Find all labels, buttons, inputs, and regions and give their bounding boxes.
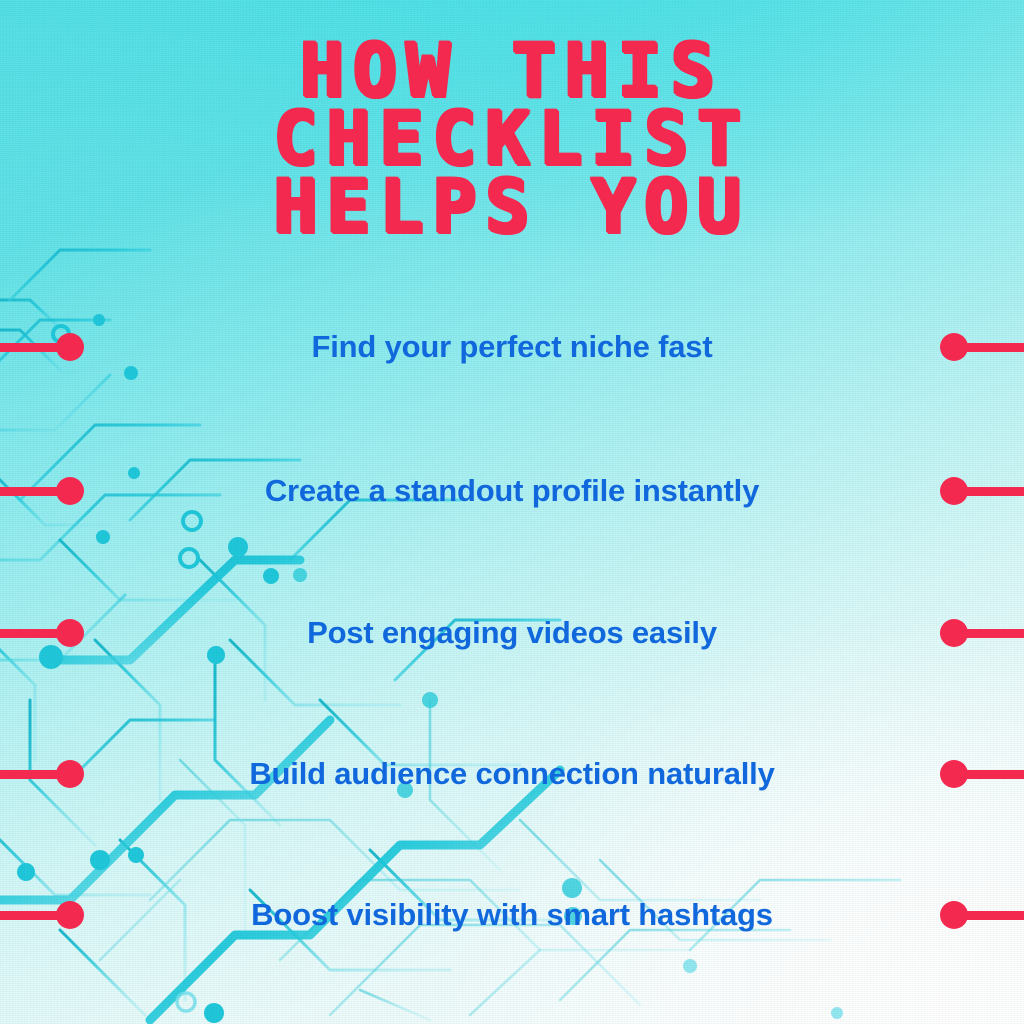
marker-bar bbox=[0, 629, 58, 638]
marker-bar bbox=[0, 911, 58, 920]
marker-bar bbox=[0, 487, 58, 496]
bullet-marker-left-3 bbox=[0, 619, 82, 647]
bullet-marker-right-2 bbox=[942, 477, 1024, 505]
checklist-item-5: Boost visibility with smart hashtags bbox=[0, 895, 1024, 935]
checklist-item-label: Create a standout profile instantly bbox=[265, 474, 759, 508]
marker-bar bbox=[966, 770, 1024, 779]
bullet-marker-right-3 bbox=[942, 619, 1024, 647]
bullet-marker-right-1 bbox=[942, 333, 1024, 361]
marker-dot bbox=[940, 477, 968, 505]
marker-dot bbox=[56, 333, 84, 361]
title-line-1: HOW THIS bbox=[0, 38, 1024, 106]
marker-dot bbox=[56, 619, 84, 647]
marker-bar bbox=[0, 343, 58, 352]
bullet-marker-left-1 bbox=[0, 333, 82, 361]
marker-dot bbox=[940, 760, 968, 788]
marker-dot bbox=[940, 901, 968, 929]
page-title: HOW THIS CHECKLIST HELPS YOU bbox=[0, 38, 1024, 242]
title-line-3: HELPS YOU bbox=[0, 174, 1024, 242]
poster-canvas: HOW THIS CHECKLIST HELPS YOU Find your p… bbox=[0, 0, 1024, 1024]
bullet-marker-right-5 bbox=[942, 901, 1024, 929]
marker-bar bbox=[0, 770, 58, 779]
bullet-marker-left-2 bbox=[0, 477, 82, 505]
checklist-item-3: Post engaging videos easily bbox=[0, 613, 1024, 653]
marker-bar bbox=[966, 343, 1024, 352]
bullet-marker-left-4 bbox=[0, 760, 82, 788]
bullet-marker-left-5 bbox=[0, 901, 82, 929]
marker-bar bbox=[966, 487, 1024, 496]
marker-bar bbox=[966, 911, 1024, 920]
marker-dot bbox=[56, 477, 84, 505]
marker-dot bbox=[940, 619, 968, 647]
checklist-item-label: Build audience connection naturally bbox=[249, 757, 774, 791]
title-line-2: CHECKLIST bbox=[0, 106, 1024, 174]
marker-bar bbox=[966, 629, 1024, 638]
checklist-item-label: Boost visibility with smart hashtags bbox=[251, 898, 773, 932]
marker-dot bbox=[940, 333, 968, 361]
checklist-item-label: Post engaging videos easily bbox=[307, 616, 717, 650]
checklist-item-label: Find your perfect niche fast bbox=[312, 330, 713, 364]
bullet-marker-right-4 bbox=[942, 760, 1024, 788]
checklist-item-2: Create a standout profile instantly bbox=[0, 471, 1024, 511]
checklist-item-4: Build audience connection naturally bbox=[0, 754, 1024, 794]
marker-dot bbox=[56, 760, 84, 788]
checklist-item-1: Find your perfect niche fast bbox=[0, 327, 1024, 367]
marker-dot bbox=[56, 901, 84, 929]
